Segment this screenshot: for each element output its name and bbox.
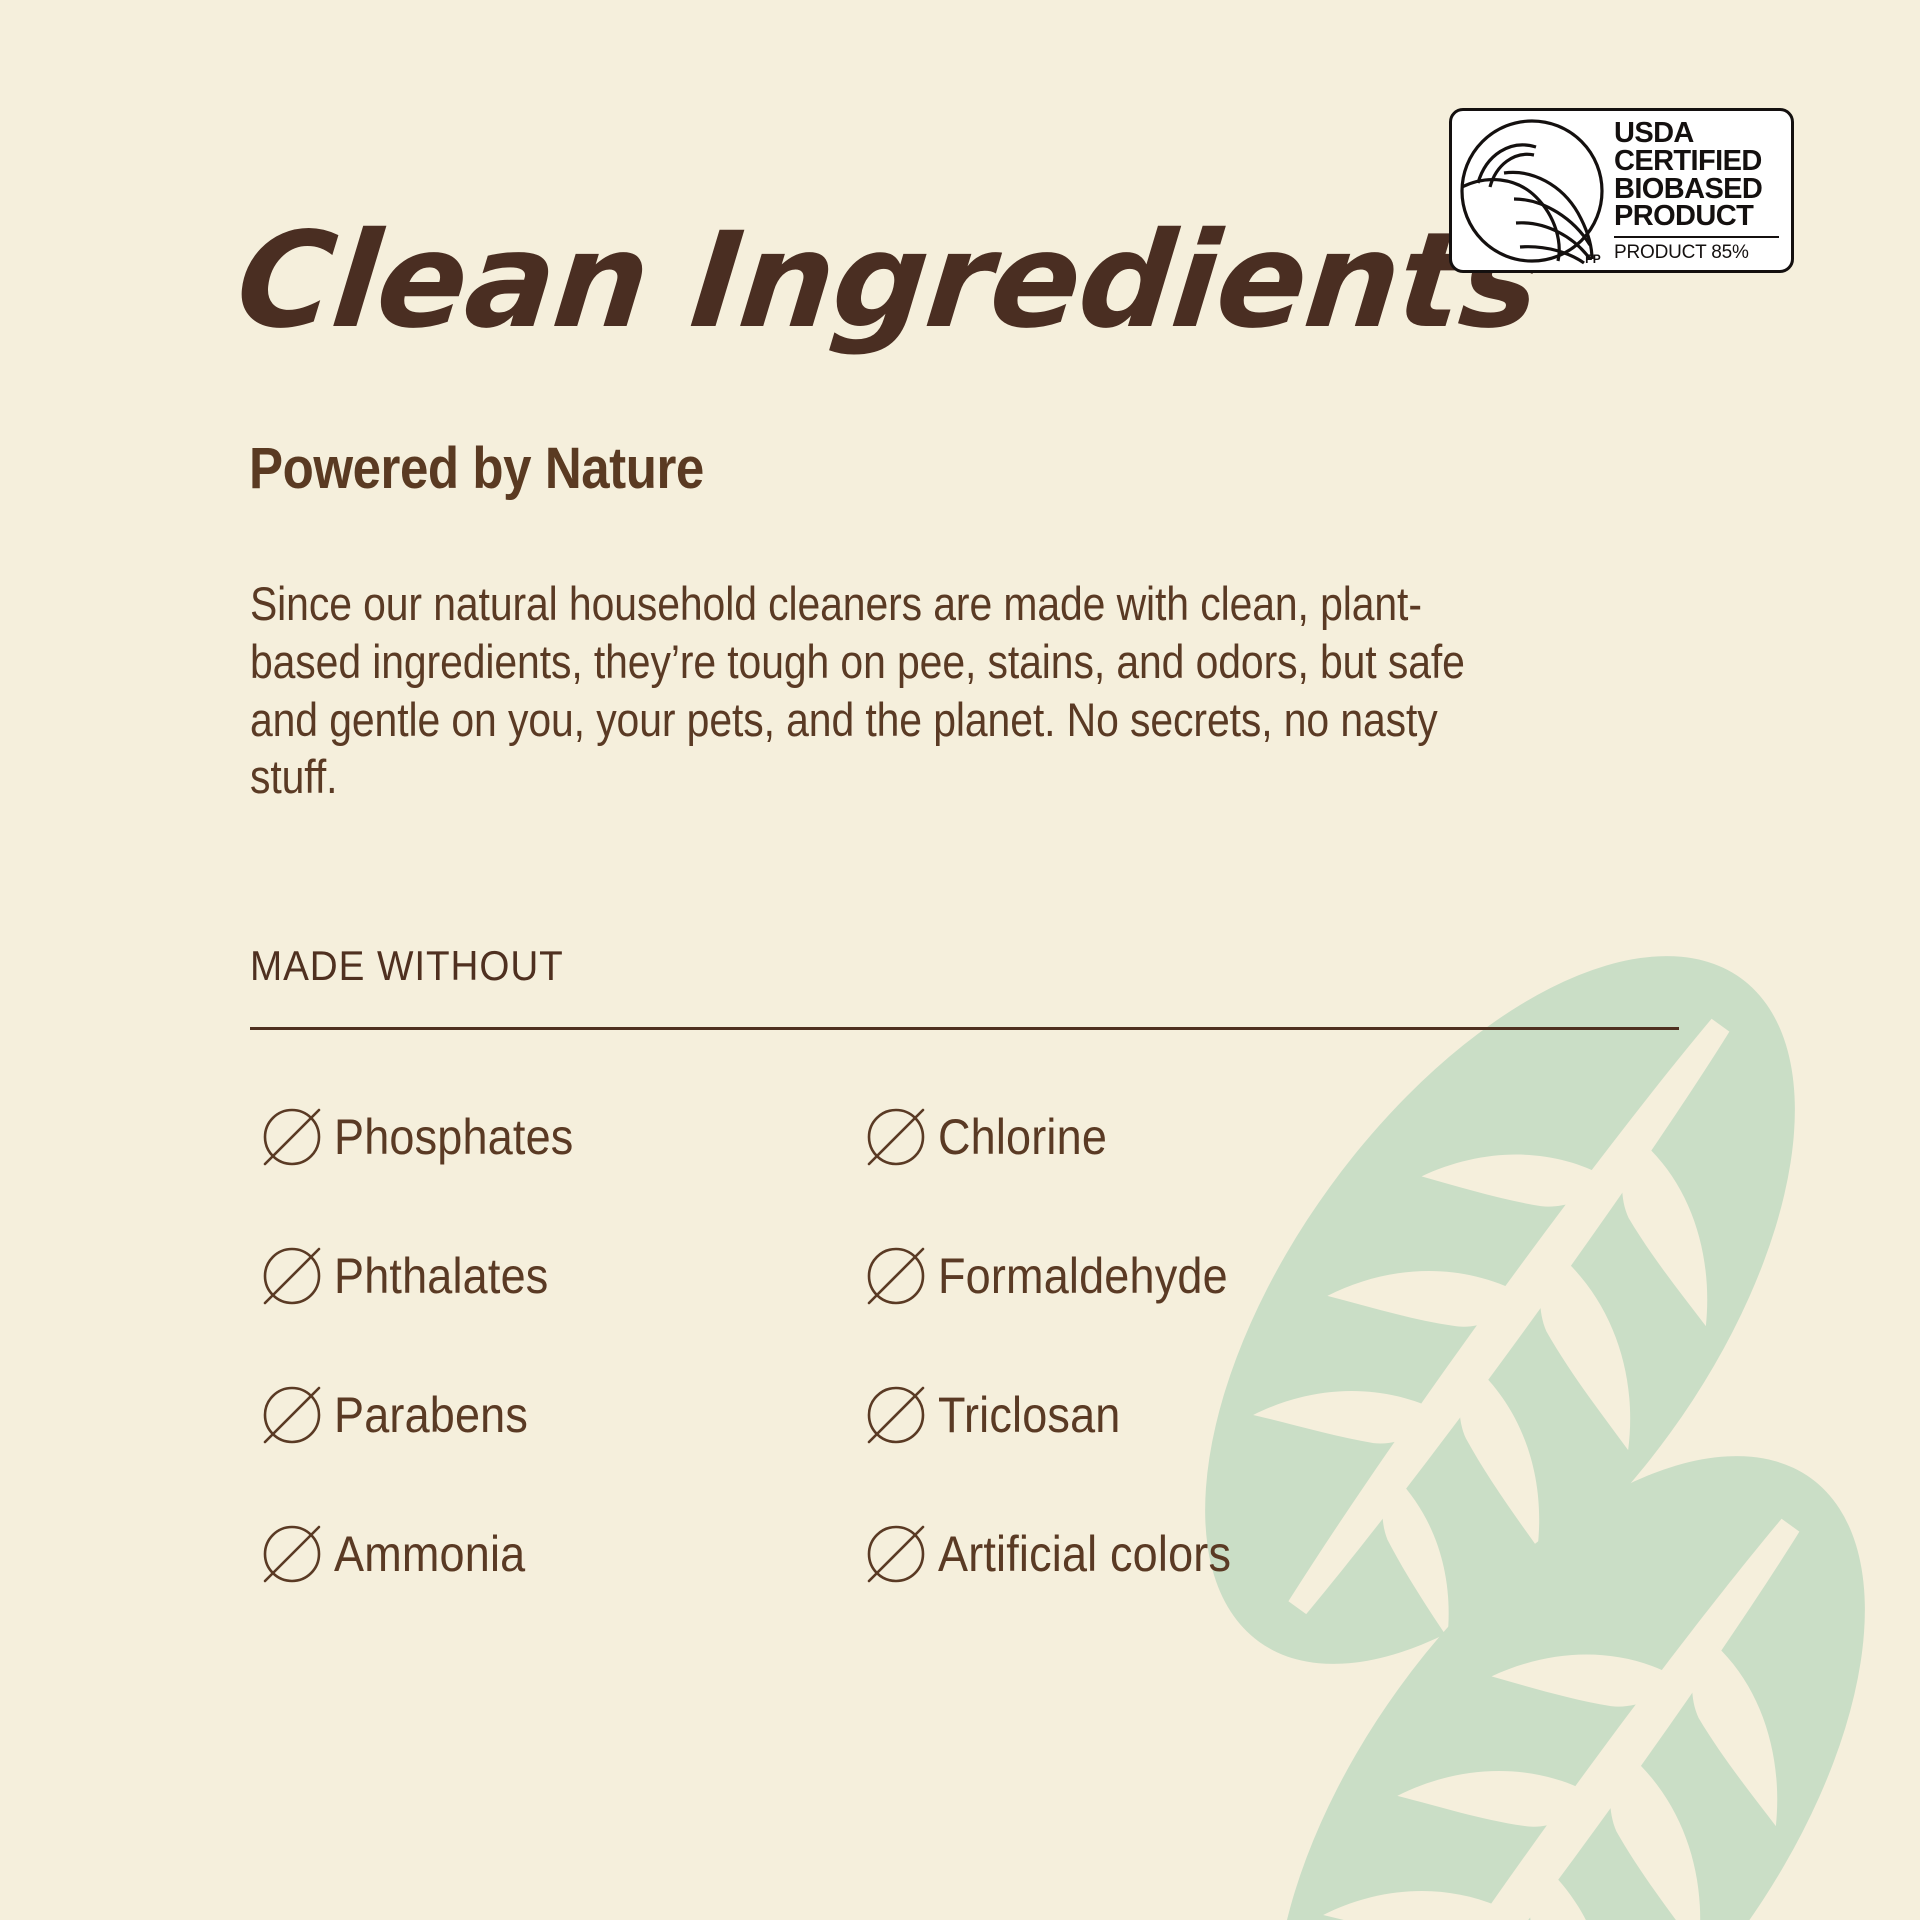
no-circle-slash-icon — [250, 1373, 334, 1457]
usda-biobased-sun-field-icon: FP — [1452, 111, 1612, 270]
list-item-label: Phthalates — [334, 1251, 548, 1301]
section-divider — [250, 1027, 1679, 1030]
usda-line-4: PRODUCT — [1614, 203, 1779, 231]
no-circle-slash-icon — [854, 1234, 938, 1318]
made-without-list: Phosphates Chlorine Phthalates — [250, 1095, 1450, 1651]
no-circle-slash-icon — [250, 1095, 334, 1179]
made-without-heading: MADE WITHOUT — [250, 945, 564, 987]
body-paragraph: Since our natural household cleaners are… — [250, 575, 1529, 806]
list-item-label: Phosphates — [334, 1112, 573, 1162]
list-item: Triclosan — [854, 1373, 1458, 1457]
list-item: Phosphates — [250, 1095, 854, 1179]
page-subtitle: Powered by Nature — [249, 440, 704, 498]
usda-line-3: BIOBASED — [1614, 176, 1779, 204]
usda-product-percentage: PRODUCT 85% — [1614, 242, 1779, 264]
usda-badge-text: USDA CERTIFIED BIOBASED PRODUCT PRODUCT … — [1612, 111, 1791, 270]
list-item-label: Parabens — [334, 1390, 528, 1440]
list-item-label: Artificial colors — [938, 1529, 1231, 1579]
clean-ingredients-panel: FP USDA CERTIFIED BIOBASED PRODUCT PRODU… — [0, 0, 1920, 1920]
list-item-label: Formaldehyde — [938, 1251, 1228, 1301]
usda-divider — [1614, 236, 1779, 238]
list-item: Phthalates — [250, 1234, 854, 1318]
list-item: Artificial colors — [854, 1512, 1458, 1596]
list-item-label: Chlorine — [938, 1112, 1107, 1162]
usda-line-2: CERTIFIED — [1614, 148, 1779, 176]
page-title: Clean Ingredients — [231, 215, 1546, 347]
no-circle-slash-icon — [854, 1373, 938, 1457]
list-item: Parabens — [250, 1373, 854, 1457]
list-item: Chlorine — [854, 1095, 1458, 1179]
usda-mark-initials: FP — [1585, 252, 1601, 266]
list-item-label: Triclosan — [938, 1390, 1121, 1440]
usda-line-1: USDA — [1614, 120, 1779, 148]
no-circle-slash-icon — [854, 1095, 938, 1179]
list-item: Formaldehyde — [854, 1234, 1458, 1318]
no-circle-slash-icon — [854, 1512, 938, 1596]
no-circle-slash-icon — [250, 1512, 334, 1596]
no-circle-slash-icon — [250, 1234, 334, 1318]
usda-certified-biobased-badge: FP USDA CERTIFIED BIOBASED PRODUCT PRODU… — [1449, 108, 1794, 273]
list-item-label: Ammonia — [334, 1529, 525, 1579]
list-item: Ammonia — [250, 1512, 854, 1596]
